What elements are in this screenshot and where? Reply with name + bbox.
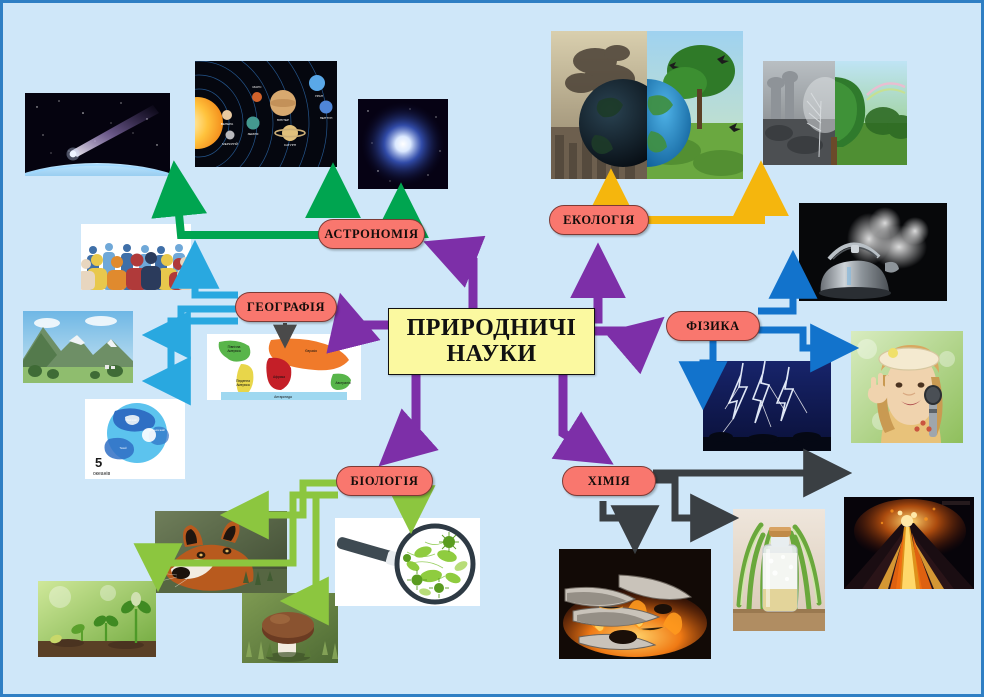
wire-chemistry-fire xyxy=(603,501,635,543)
branch-chemistry[interactable]: ХІМІЯ xyxy=(562,466,656,496)
branch-ecology-label: ЕКОЛОГІЯ xyxy=(563,213,635,228)
wire-physics-girl xyxy=(758,330,848,348)
branch-geography-label: ГЕОГРАФІЯ xyxy=(247,300,325,315)
mindmap-canvas: ПРИРОДНИЧІ НАУКИ АСТРОНОМІЯ ЕКОЛОГІЯ ГЕО… xyxy=(0,0,984,697)
wire-chemistry-bottle xyxy=(653,480,728,518)
branch-chemistry-label: ХІМІЯ xyxy=(588,474,631,489)
spoke-biology xyxy=(388,373,416,458)
wire-physics-lightning xyxy=(703,341,713,399)
center-node[interactable]: ПРИРОДНИЧІ НАУКИ xyxy=(388,308,595,375)
wire-biology-fox xyxy=(231,483,338,515)
wire-geography-crowd xyxy=(195,251,238,295)
branch-biology[interactable]: БІОЛОГІЯ xyxy=(336,466,433,496)
center-title-line2: НАУКИ xyxy=(446,342,536,368)
wire-biology-seedlings xyxy=(158,495,338,581)
branch-physics[interactable]: ФІЗИКА xyxy=(666,311,760,341)
spoke-geography xyxy=(343,305,388,325)
spoke-physics xyxy=(593,325,655,331)
branch-physics-label: ФІЗИКА xyxy=(686,319,740,334)
spoke-chemistry xyxy=(563,373,603,458)
branch-geography[interactable]: ГЕОГРАФІЯ xyxy=(235,292,337,322)
branch-biology-label: БІОЛОГІЯ xyxy=(351,474,419,489)
branch-astronomy-label: АСТРОНОМІЯ xyxy=(324,227,418,242)
center-title-line1: ПРИРОДНИЧІ xyxy=(407,316,577,342)
spoke-astronomy xyxy=(435,246,473,308)
wire-physics-kettle xyxy=(758,261,793,311)
branch-ecology[interactable]: ЕКОЛОГІЯ xyxy=(549,205,649,235)
wire-astronomy-comet xyxy=(175,173,323,235)
wire-ecology-tree xyxy=(643,173,761,220)
branch-astronomy[interactable]: АСТРОНОМІЯ xyxy=(318,219,425,249)
